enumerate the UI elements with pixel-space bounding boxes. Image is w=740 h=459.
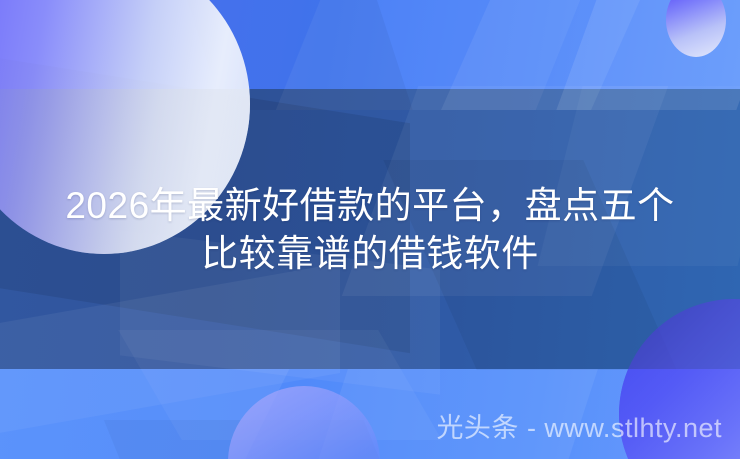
- promo-banner: 2026年最新好借款的平台，盘点五个 比较靠谱的借钱软件 光头条 - www.s…: [0, 0, 740, 459]
- site-watermark: 光头条 - www.stlhty.net: [436, 406, 722, 445]
- banner-title: 2026年最新好借款的平台，盘点五个 比较靠谱的借钱软件: [0, 182, 740, 278]
